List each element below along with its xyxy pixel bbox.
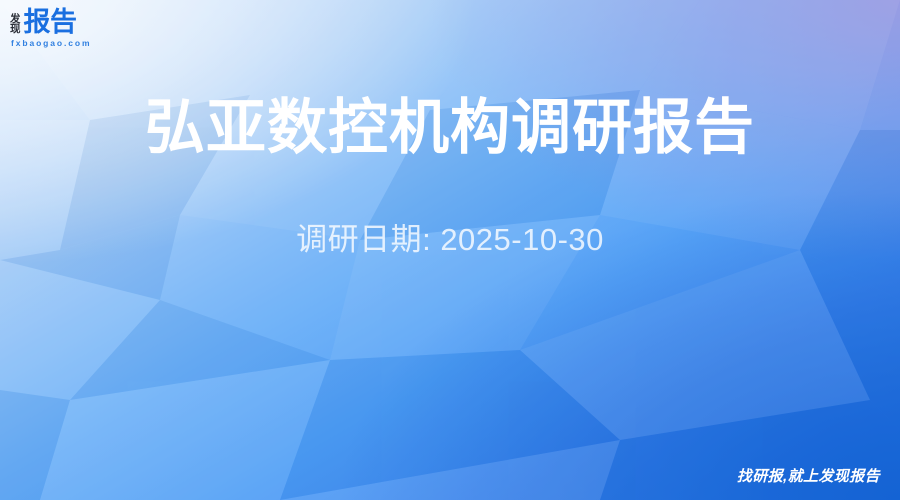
report-cover-page: 发 现 报告 fxbaogao.com 弘亚数控机构调研报告 调研日期: 202… [0,0,900,500]
logo-mark-characters: 发 现 [10,14,21,36]
low-poly-background [0,0,900,500]
logo-wordmark-row: 发 现 报告 [10,6,130,36]
page-title: 弘亚数控机构调研报告 [145,96,755,159]
logo-domain-text: fxbaogao.com [11,38,130,48]
logo-wordmark: 报告 [24,10,77,36]
footer-slogan: 找研报,就上发现报告 [737,465,880,486]
site-logo[interactable]: 发 现 报告 fxbaogao.com [10,6,130,50]
page-subtitle: 调研日期: 2025-10-30 [296,214,604,259]
cover-title-block: 弘亚数控机构调研报告 调研日期: 2025-10-30 [0,0,900,500]
logo-mark-bottom: 现 [10,24,21,35]
